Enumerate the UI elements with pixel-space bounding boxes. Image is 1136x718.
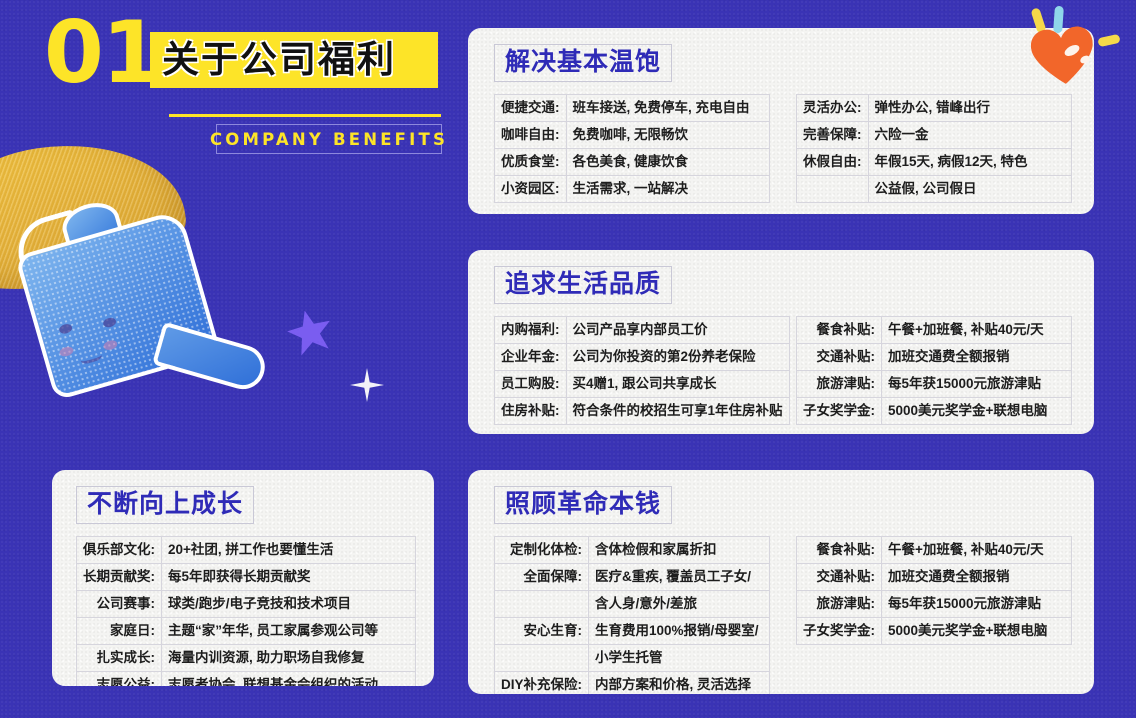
card-title-box: 解决基本温饱	[494, 44, 672, 82]
table-row: 长期贡献奖: 每5年即获得长期贡献奖	[77, 564, 416, 591]
watering-can-handle	[10, 209, 100, 319]
row-label: 咖啡自由:	[495, 122, 567, 149]
row-value: 每5年获15000元旅游津贴	[882, 371, 1072, 398]
row-value: 内部方案和价格, 灵活选择	[589, 672, 770, 695]
row-label: 定制化体检:	[495, 537, 589, 564]
row-label: 完善保障:	[797, 122, 869, 149]
face-eye-right	[102, 316, 117, 328]
face-mouth	[79, 348, 103, 366]
card-life-quality: 追求生活品质 内购福利: 公司产品享内部员工价 企业年金: 公司为你投资的第2份…	[468, 250, 1094, 434]
table-row: 含人身/意外/差旅	[495, 591, 770, 618]
table-row: 扎实成长: 海量内训资源, 助力职场自我修复	[77, 645, 416, 672]
header-subtitle-box: COMPANY BENEFITS	[216, 124, 442, 154]
white-sparkle-icon	[350, 368, 384, 402]
header-divider-line	[169, 114, 441, 117]
table-row: 餐食补贴: 午餐+加班餐, 补贴40元/天	[797, 537, 1072, 564]
face-cheek-right	[102, 339, 118, 352]
card-title: 照顾革命本钱	[505, 489, 661, 519]
row-value: 加班交通费全额报销	[882, 564, 1072, 591]
benefit-table-right: 餐食补贴: 午餐+加班餐, 补贴40元/天 交通补贴: 加班交通费全额报销 旅游…	[796, 536, 1072, 645]
table-row: 旅游津贴: 每5年获15000元旅游津贴	[797, 591, 1072, 618]
table-row: 家庭日: 主题“家”年华, 员工家属参观公司等	[77, 618, 416, 645]
header-subtitle: COMPANY BENEFITS	[210, 130, 448, 149]
watering-can-face	[48, 294, 163, 401]
table-row: 志愿公益: 志愿者协会, 联想基金会组织的活动	[77, 672, 416, 687]
row-label: 俱乐部文化:	[77, 537, 162, 564]
row-label: 公司赛事:	[77, 591, 162, 618]
watering-can-neck	[58, 197, 125, 251]
row-value: 午餐+加班餐, 补贴40元/天	[882, 317, 1072, 344]
row-value: 弹性办公, 错峰出行	[868, 95, 1072, 122]
row-value: 生育费用100%报销/母婴室/	[589, 618, 770, 645]
card-title: 追求生活品质	[505, 269, 661, 299]
section-number: 01	[44, 10, 160, 96]
row-label: 员工购股:	[495, 371, 567, 398]
row-value: 班车接送, 免费停车, 充电自由	[566, 95, 770, 122]
watering-can-illustration	[6, 196, 276, 426]
row-label: 灵活办公:	[797, 95, 869, 122]
table-row: 灵活办公: 弹性办公, 错峰出行	[797, 95, 1072, 122]
card-column-left: 定制化体检: 含体检假和家属折扣 全面保障: 医疗&重疾, 覆盖员工子女/ 含人…	[494, 536, 770, 694]
row-value: 年假15天, 病假12天, 特色	[868, 149, 1072, 176]
row-value: 公司产品享内部员工价	[566, 317, 789, 344]
row-label: DIY补充保险:	[495, 672, 589, 695]
row-label: 交通补贴:	[797, 564, 882, 591]
benefit-table-left: 便捷交通: 班车接送, 免费停车, 充电自由 咖啡自由: 免费咖啡, 无限畅饮 …	[494, 94, 770, 203]
row-value: 海量内训资源, 助力职场自我修复	[162, 645, 416, 672]
row-value: 5000美元奖学金+联想电脑	[882, 398, 1072, 425]
watering-can-body	[15, 209, 222, 401]
card-title: 不断向上成长	[87, 489, 243, 519]
page-header: 01 关于公司福利 COMPANY BENEFITS	[44, 8, 444, 158]
row-value: 5000美元奖学金+联想电脑	[882, 618, 1072, 645]
row-label: 便捷交通:	[495, 95, 567, 122]
row-label: 住房补贴:	[495, 398, 567, 425]
table-row: 内购福利: 公司产品享内部员工价	[495, 317, 790, 344]
table-row: 定制化体检: 含体检假和家属折扣	[495, 537, 770, 564]
row-label	[797, 176, 869, 203]
row-label: 志愿公益:	[77, 672, 162, 687]
table-row: 企业年金: 公司为你投资的第2份养老保险	[495, 344, 790, 371]
table-row: 小学生托管	[495, 645, 770, 672]
table-row: 住房补贴: 符合条件的校招生可享1年住房补贴	[495, 398, 790, 425]
row-label: 旅游津贴:	[797, 591, 882, 618]
row-value: 含人身/意外/差旅	[589, 591, 770, 618]
row-value: 小学生托管	[589, 645, 770, 672]
table-row: 公益假, 公司假日	[797, 176, 1072, 203]
row-value: 球类/跑步/电子竞技和技术项目	[162, 591, 416, 618]
card-title-box: 追求生活品质	[494, 266, 672, 304]
card-title-box: 不断向上成长	[76, 486, 254, 524]
card-title: 解决基本温饱	[505, 47, 661, 77]
row-value: 符合条件的校招生可享1年住房补贴	[566, 398, 789, 425]
benefit-table-right: 餐食补贴: 午餐+加班餐, 补贴40元/天 交通补贴: 加班交通费全额报销 旅游…	[796, 316, 1072, 425]
table-row: 公司赛事: 球类/跑步/电子竞技和技术项目	[77, 591, 416, 618]
face-cheek-left	[58, 345, 74, 358]
row-label: 小资园区:	[495, 176, 567, 203]
table-row: 子女奖学金: 5000美元奖学金+联想电脑	[797, 398, 1072, 425]
row-label: 休假自由:	[797, 149, 869, 176]
row-label: 家庭日:	[77, 618, 162, 645]
card-column-right: 餐食补贴: 午餐+加班餐, 补贴40元/天 交通补贴: 加班交通费全额报销 旅游…	[796, 316, 1072, 425]
row-label	[495, 645, 589, 672]
heart-dash-yellow-right	[1097, 34, 1120, 47]
row-value: 医疗&重疾, 覆盖员工子女/	[589, 564, 770, 591]
row-value: 公司为你投资的第2份养老保险	[566, 344, 789, 371]
row-label: 扎实成长:	[77, 645, 162, 672]
card-column-left: 内购福利: 公司产品享内部员工价 企业年金: 公司为你投资的第2份养老保险 员工…	[494, 316, 770, 425]
page-title: 关于公司福利	[162, 38, 396, 82]
table-row: 交通补贴: 加班交通费全额报销	[797, 344, 1072, 371]
row-value: 志愿者协会, 联想基金会组织的活动	[162, 672, 416, 687]
table-row: 小资园区: 生活需求, 一站解决	[495, 176, 770, 203]
benefit-table-left: 内购福利: 公司产品享内部员工价 企业年金: 公司为你投资的第2份养老保险 员工…	[494, 316, 790, 425]
row-label	[495, 591, 589, 618]
table-row: 员工购股: 买4赠1, 跟公司共享成长	[495, 371, 790, 398]
benefit-table-left: 俱乐部文化: 20+社团, 拼工作也要懂生活 长期贡献奖: 每5年即获得长期贡献…	[76, 536, 416, 686]
row-label: 全面保障:	[495, 564, 589, 591]
row-value: 20+社团, 拼工作也要懂生活	[162, 537, 416, 564]
card-column-right: 餐食补贴: 午餐+加班餐, 补贴40元/天 交通补贴: 加班交通费全额报销 旅游…	[796, 536, 1072, 694]
row-value: 主题“家”年华, 员工家属参观公司等	[162, 618, 416, 645]
table-row: 俱乐部文化: 20+社团, 拼工作也要懂生活	[77, 537, 416, 564]
row-value: 加班交通费全额报销	[882, 344, 1072, 371]
row-label: 旅游津贴:	[797, 371, 882, 398]
table-row: 子女奖学金: 5000美元奖学金+联想电脑	[797, 618, 1072, 645]
card-growth: 不断向上成长 俱乐部文化: 20+社团, 拼工作也要懂生活 长期贡献奖: 每5年…	[52, 470, 434, 686]
row-value: 六险一金	[868, 122, 1072, 149]
face-eye-left	[58, 323, 73, 335]
table-row: 休假自由: 年假15天, 病假12天, 特色	[797, 149, 1072, 176]
table-row: 咖啡自由: 免费咖啡, 无限畅饮	[495, 122, 770, 149]
row-label: 优质食堂:	[495, 149, 567, 176]
row-label: 餐食补贴:	[797, 317, 882, 344]
benefit-table-left: 定制化体检: 含体检假和家属折扣 全面保障: 医疗&重疾, 覆盖员工子女/ 含人…	[494, 536, 770, 694]
table-row: 便捷交通: 班车接送, 免费停车, 充电自由	[495, 95, 770, 122]
table-row: 安心生育: 生育费用100%报销/母婴室/	[495, 618, 770, 645]
row-value: 买4赠1, 跟公司共享成长	[566, 371, 789, 398]
table-row: DIY补充保险: 内部方案和价格, 灵活选择	[495, 672, 770, 695]
watering-can-spout	[152, 322, 270, 395]
row-label: 安心生育:	[495, 618, 589, 645]
row-value: 生活需求, 一站解决	[566, 176, 770, 203]
row-label: 长期贡献奖:	[77, 564, 162, 591]
row-value: 午餐+加班餐, 补贴40元/天	[882, 537, 1072, 564]
purple-star-icon	[283, 305, 336, 358]
card-health: 照顾革命本钱 定制化体检: 含体检假和家属折扣 全面保障: 医疗&重疾, 覆盖员…	[468, 470, 1094, 694]
benefit-table-right: 灵活办公: 弹性办公, 错峰出行 完善保障: 六险一金 休假自由: 年假15天,…	[796, 94, 1072, 203]
card-title-box: 照顾革命本钱	[494, 486, 672, 524]
row-label: 交通补贴:	[797, 344, 882, 371]
table-row: 餐食补贴: 午餐+加班餐, 补贴40元/天	[797, 317, 1072, 344]
row-value: 免费咖啡, 无限畅饮	[566, 122, 770, 149]
row-label: 子女奖学金:	[797, 398, 882, 425]
card-column-right: 灵活办公: 弹性办公, 错峰出行 完善保障: 六险一金 休假自由: 年假15天,…	[796, 94, 1072, 203]
card-basic-needs: 解决基本温饱 便捷交通: 班车接送, 免费停车, 充电自由 咖啡自由: 免费咖啡…	[468, 28, 1094, 214]
row-label: 子女奖学金:	[797, 618, 882, 645]
row-label: 企业年金:	[495, 344, 567, 371]
row-value: 每5年即获得长期贡献奖	[162, 564, 416, 591]
table-row: 旅游津贴: 每5年获15000元旅游津贴	[797, 371, 1072, 398]
table-row: 完善保障: 六险一金	[797, 122, 1072, 149]
row-label: 内购福利:	[495, 317, 567, 344]
table-row: 优质食堂: 各色美食, 健康饮食	[495, 149, 770, 176]
row-value: 每5年获15000元旅游津贴	[882, 591, 1072, 618]
row-value: 各色美食, 健康饮食	[566, 149, 770, 176]
card-column-left: 便捷交通: 班车接送, 免费停车, 充电自由 咖啡自由: 免费咖啡, 无限畅饮 …	[494, 94, 770, 203]
row-label: 餐食补贴:	[797, 537, 882, 564]
row-value: 公益假, 公司假日	[868, 176, 1072, 203]
table-row: 交通补贴: 加班交通费全额报销	[797, 564, 1072, 591]
row-value: 含体检假和家属折扣	[589, 537, 770, 564]
table-row: 全面保障: 医疗&重疾, 覆盖员工子女/	[495, 564, 770, 591]
